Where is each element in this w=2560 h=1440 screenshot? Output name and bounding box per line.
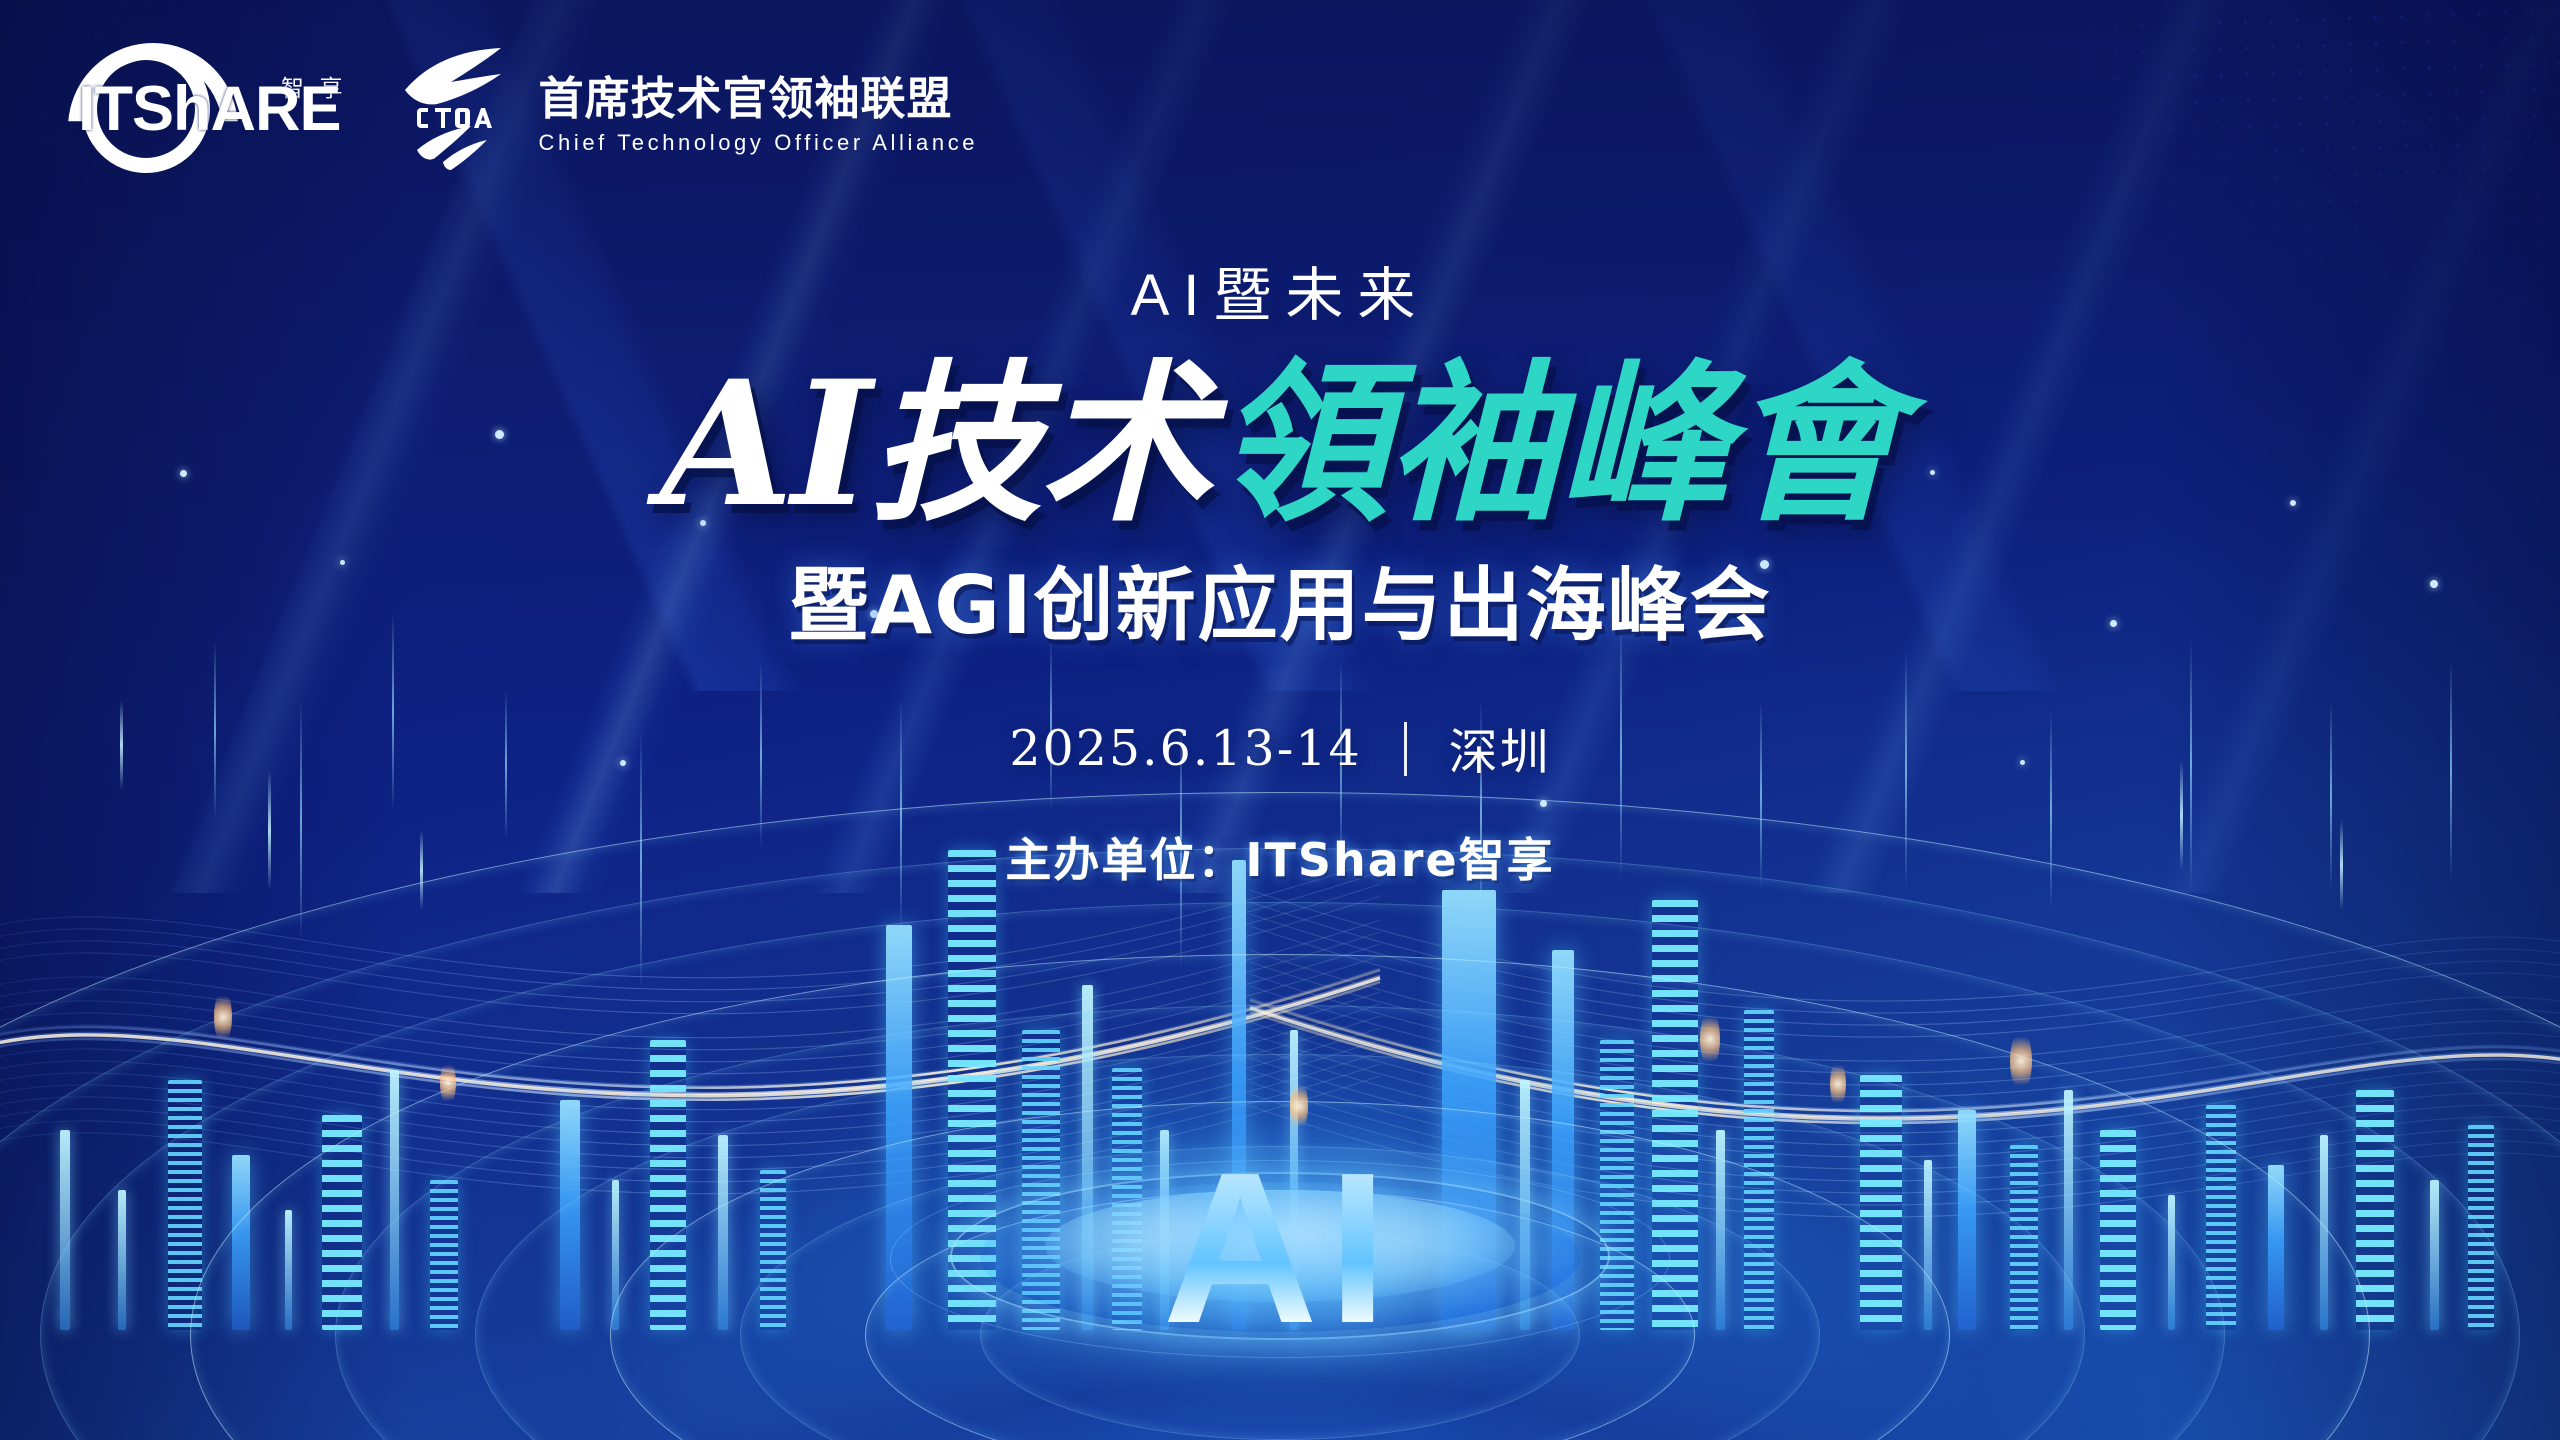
event-location: 深圳	[1449, 713, 1551, 784]
logo-itshare[interactable]: ITShARE 智·享	[74, 73, 341, 145]
ground-concentric-rings	[0, 810, 2560, 1440]
podium-top-plate	[1045, 1190, 1515, 1302]
ctoa-eagle-icon	[397, 46, 523, 172]
header-logo-bar: ITShARE 智·享	[74, 46, 978, 172]
light-particles	[0, 0, 2560, 1440]
conference-poster: AI ITShARE 智·享	[0, 0, 2560, 1440]
event-date: 2025.6.13-14	[1009, 720, 1361, 777]
top-vignette	[0, 0, 2560, 1440]
ctoa-name-cn: 首席技术官领袖联盟	[539, 62, 979, 127]
wave-mesh-right	[1250, 800, 2560, 1320]
podium-inner-ring	[950, 1172, 1610, 1340]
itshare-wordmark: ITShARE	[74, 73, 341, 145]
meta-divider-icon	[1404, 722, 1407, 776]
halftone-dots-right-icon	[1711, 0, 2560, 536]
event-meta: 2025.6.13-14 深圳	[1009, 713, 1550, 784]
subtitle-text: 暨AGI创新应用与出海峰会	[788, 541, 1771, 657]
podium-outer-ring	[890, 1160, 1670, 1358]
page-title: AI技术 領袖峰會	[660, 356, 1900, 531]
ctoa-name-en: Chief Technology Officer Alliance	[539, 130, 979, 156]
kicker-text: AI暨未来	[1131, 248, 1430, 332]
city-skyline-bars	[0, 810, 2560, 1330]
title-part-cyan: 領袖峰會	[1216, 356, 1900, 531]
falling-light-lines	[0, 0, 2560, 1440]
hero-ai-text: AI	[1163, 1151, 1398, 1345]
logo-ctoa[interactable]: 首席技术官领袖联盟 Chief Technology Officer Allia…	[397, 46, 979, 172]
title-part-white: AI技术	[660, 356, 1210, 531]
wave-mesh-left	[0, 780, 1380, 1300]
side-vignette	[0, 0, 2560, 1440]
podium-base-glow	[980, 1182, 1580, 1332]
ai-podium	[960, 1142, 1600, 1352]
host-organization: 主办单位：ITShare智享	[1005, 824, 1554, 890]
